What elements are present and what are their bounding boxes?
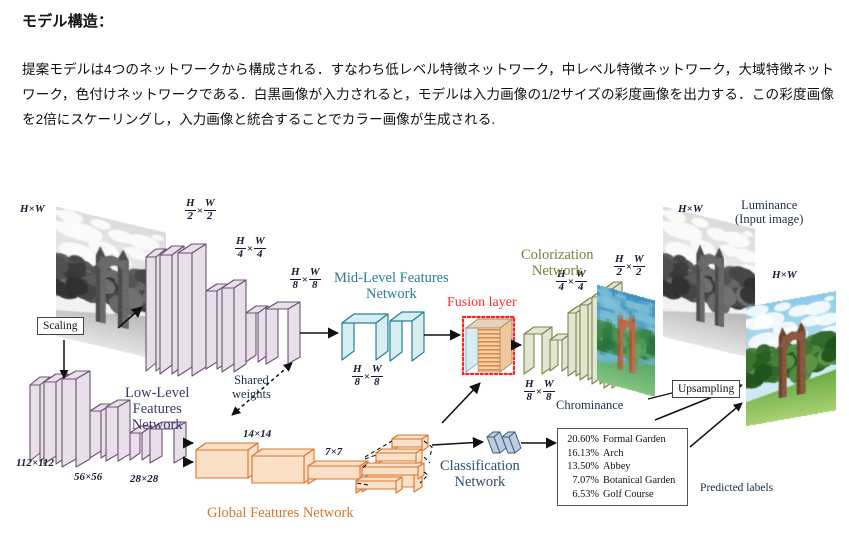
low-level-blocks-upper — [146, 244, 300, 376]
prediction-row: 20.60% Formal Garden — [563, 433, 681, 447]
dim-luminance-hw: H×W — [678, 203, 703, 215]
chrominance-image — [597, 285, 655, 397]
page-root: モデル構造： 提案モデルは4つのネットワークから構成される．すなわち低レベル特徴… — [0, 0, 849, 537]
dim-input-hw: H×W — [20, 203, 45, 215]
body-paragraph: 提案モデルは4つのネットワークから構成される．すなわち低レベル特徴ネットワーク，… — [22, 57, 834, 132]
dim-eighth-color: H8×W8 — [524, 380, 555, 404]
prediction-row: 13.50% Abbey — [563, 460, 681, 474]
upsampling-box: Upsampling — [672, 380, 740, 398]
fusion-layer-block — [463, 317, 514, 374]
classification-blocks — [487, 432, 521, 453]
prediction-row: 6.53% Golf Course — [563, 488, 681, 502]
dim-quarter-upper: H4×W4 — [235, 237, 266, 261]
luminance-label: Luminance (Input image) — [735, 198, 803, 226]
global-features-network-label: Global Features Network — [207, 505, 354, 521]
fusion-layer-label: Fusion layer — [447, 295, 517, 311]
predicted-labels-box: 20.60% Formal Garden 16.13% Arch 13.50% … — [557, 428, 688, 506]
dim-output-hw: H×W — [772, 269, 797, 281]
colorization-network-label: Colorization Network — [521, 247, 594, 279]
global-features-blocks — [196, 435, 428, 493]
dim-half-chroma: H2×W2 — [614, 255, 645, 279]
classification-network-label: Classification Network — [440, 458, 520, 490]
dim-eighth-upper: H8×W8 — [290, 268, 321, 292]
model-architecture-figure: H×W H2×W2 H4×W4 H8×W8 H8×W8 H4×W4 H8×W8 … — [0, 185, 849, 537]
dim-28: 28×28 — [130, 473, 158, 485]
dim-eighth-mid: H8×W8 — [352, 365, 383, 389]
mid-level-blocks — [342, 312, 424, 361]
mid-level-network-label: Mid-Level Features Network — [334, 270, 449, 302]
dim-7: 7×7 — [325, 446, 342, 458]
dim-112: 112×112 — [16, 457, 54, 469]
dim-14: 14×14 — [243, 428, 271, 440]
shared-weights-label: Shared weights — [232, 373, 271, 401]
dim-56: 56×56 — [74, 471, 102, 483]
predicted-labels-caption: Predicted labels — [700, 482, 773, 495]
scaling-box: Scaling — [37, 317, 84, 335]
dim-half-upper: H2×W2 — [185, 199, 216, 223]
prediction-row: 16.13% Arch — [563, 447, 681, 461]
prediction-row: 7.07% Botanical Garden — [563, 474, 681, 488]
low-level-network-label: Low-Level Features Network — [125, 385, 189, 434]
chrominance-label: Chrominance — [556, 398, 623, 412]
page-title: モデル構造： — [22, 10, 113, 31]
